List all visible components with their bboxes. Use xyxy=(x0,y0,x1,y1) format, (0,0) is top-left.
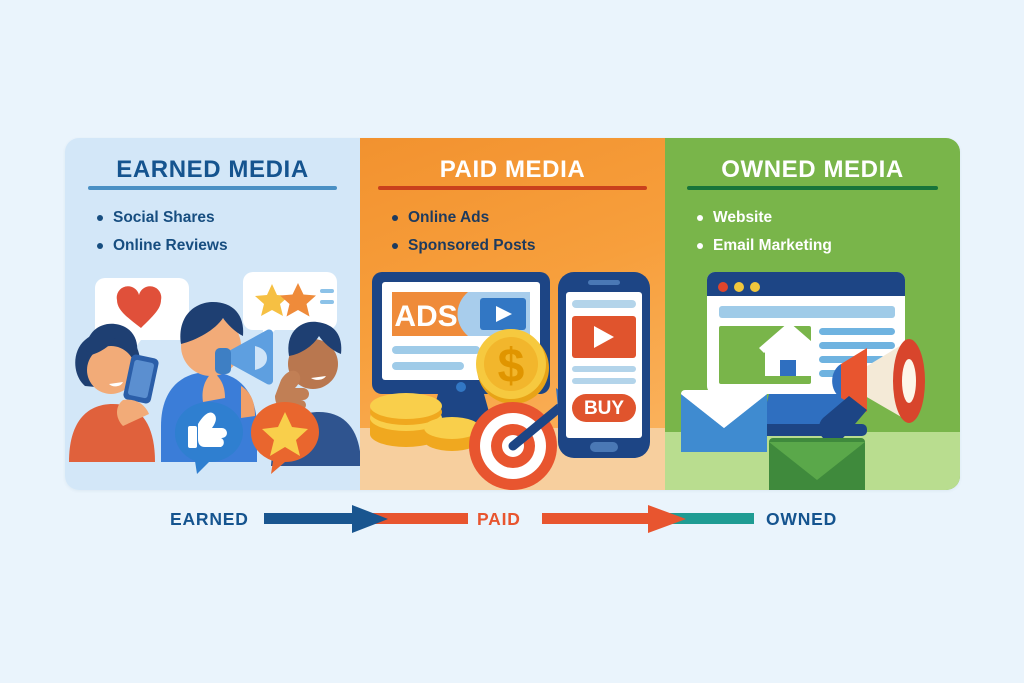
panel-earned-media[interactable]: EARNED MEDIA Social Shares Online Review… xyxy=(65,138,360,490)
panel-bullets-earned: Social Shares Online Reviews xyxy=(95,204,228,260)
flow-row: EARNED PAID OWNED xyxy=(0,498,1024,540)
list-item: Online Reviews xyxy=(95,232,228,260)
flow-arrow-paid-to-owned xyxy=(542,505,754,533)
panel-title-underline xyxy=(687,186,938,190)
flow-label-paid: PAID xyxy=(477,498,521,540)
list-item: Sponsored Posts xyxy=(390,232,535,260)
panel-title-underline xyxy=(88,186,337,190)
owned-illustration xyxy=(665,260,960,490)
panel-bullets-paid: Online Ads Sponsored Posts xyxy=(390,204,535,260)
infographic-canvas: EARNED MEDIA Social Shares Online Review… xyxy=(0,0,1024,683)
panel-owned-media[interactable]: OWNED MEDIA Website Email Marketing xyxy=(665,138,960,490)
buy-label: BUY xyxy=(584,398,624,419)
panel-bullets-owned: Website Email Marketing xyxy=(695,204,832,260)
panel-paid-media[interactable]: PAID MEDIA Online Ads Sponsored Posts xyxy=(360,138,665,490)
panel-title-owned: OWNED MEDIA xyxy=(665,156,960,184)
flow-arrow-earned-to-paid xyxy=(264,505,468,533)
flow-label-owned: OWNED xyxy=(766,498,837,540)
list-item: Online Ads xyxy=(390,204,535,232)
media-panels: EARNED MEDIA Social Shares Online Review… xyxy=(65,138,960,490)
list-item: Social Shares xyxy=(95,204,228,232)
list-item: Website xyxy=(695,204,832,232)
panel-title-earned: EARNED MEDIA xyxy=(65,156,360,184)
envelope-blue-icon xyxy=(681,390,767,452)
earned-illustration xyxy=(65,260,360,490)
dollar-sign-label: $ xyxy=(498,340,525,393)
thumbs-up-badge-icon xyxy=(175,402,243,474)
phone-buy-icon: BUY xyxy=(558,272,650,458)
envelope-green-icon xyxy=(769,438,865,490)
panel-title-paid: PAID MEDIA xyxy=(360,156,665,184)
paid-illustration: $ xyxy=(360,260,665,490)
panel-title-underline xyxy=(378,186,647,190)
ads-label: ADS xyxy=(394,300,457,333)
list-item: Email Marketing xyxy=(695,232,832,260)
person-phone xyxy=(69,324,159,462)
flow-label-earned: EARNED xyxy=(170,498,249,540)
